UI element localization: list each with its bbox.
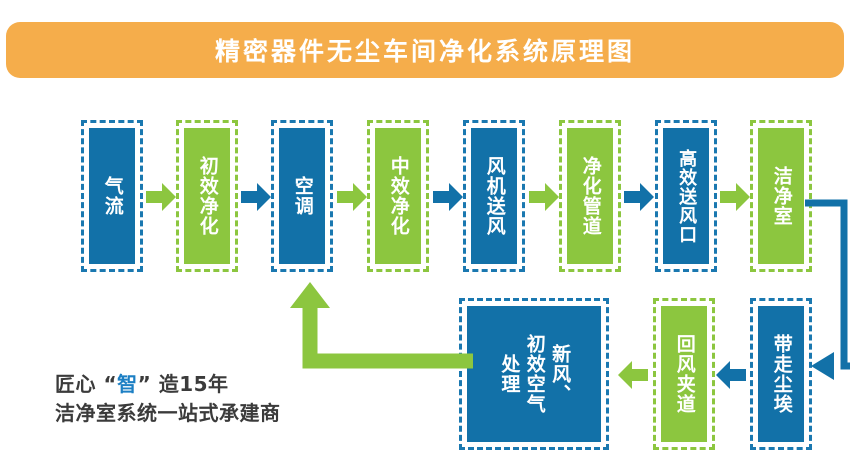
node-fill: 带走尘埃 — [758, 306, 804, 442]
flow-arrow-right-2 — [241, 182, 271, 212]
flow-arrow-right-5 — [529, 182, 559, 212]
connector-cleanroom-to-dust — [805, 198, 850, 383]
tagline-line-2: 洁净室系统一站式承建商 — [55, 399, 281, 428]
node-fill: 中效净化 — [375, 128, 421, 264]
node-fill: 初效净化 — [184, 128, 230, 264]
node-fill: 高效送风口 — [663, 128, 709, 264]
flow-node-label: 高效送风口 — [677, 149, 695, 244]
flow-arrow-right-3 — [337, 182, 367, 212]
flow-node-label-col-2: 初效空气 — [524, 334, 543, 414]
flow-arrow-right-6 — [624, 182, 654, 212]
node-fill: 洁净室 — [758, 128, 804, 264]
node-fill: 空调 — [279, 128, 325, 264]
flow-arrow-right-7 — [720, 182, 750, 212]
node-fill: 风机送风 — [471, 128, 517, 264]
flow-node-label: 带走尘埃 — [771, 334, 790, 414]
tagline-line1-pre: 匠心 “ — [55, 372, 117, 396]
vertical-text-columns: 新风、 初效空气 处理 — [499, 306, 569, 442]
flow-arrow-right-1 — [146, 182, 176, 212]
node-fill: 气流 — [89, 128, 135, 264]
flow-node-label: 回风夹道 — [674, 334, 693, 414]
tagline-line1-accent: 智 — [117, 372, 138, 396]
flow-node-fan-supply[interactable]: 风机送风 — [463, 120, 525, 272]
tagline: 匠心 “智” 造15年 洁净室系统一站式承建商 — [55, 370, 281, 428]
flow-node-label-col-1: 新风、 — [550, 344, 569, 404]
flow-node-label: 净化管道 — [580, 156, 599, 236]
flow-node-cleanroom[interactable]: 洁净室 — [750, 120, 812, 272]
flow-arrow-left-1 — [618, 360, 648, 390]
flow-node-primary-filtration[interactable]: 初效净化 — [176, 120, 238, 272]
connector-return-to-aircon — [288, 282, 473, 372]
flow-node-label: 初效净化 — [197, 156, 216, 236]
flow-node-airflow[interactable]: 气流 — [81, 120, 143, 272]
flow-arrow-right-4 — [433, 182, 463, 212]
flow-node-medium-filtration[interactable]: 中效净化 — [367, 120, 429, 272]
flow-node-label: 气流 — [102, 176, 121, 216]
node-fill: 新风、 初效空气 处理 — [467, 306, 601, 442]
tagline-line1-post: ” 造15年 — [138, 372, 229, 396]
flow-node-clean-duct[interactable]: 净化管道 — [559, 120, 621, 272]
flow-node-label: 风机送风 — [484, 156, 503, 236]
flow-node-return-air-plenum[interactable]: 回风夹道 — [653, 298, 715, 450]
flow-node-carry-away-dust[interactable]: 带走尘埃 — [750, 298, 812, 450]
flow-node-label: 中效净化 — [388, 156, 407, 236]
tagline-line-1: 匠心 “智” 造15年 — [55, 370, 281, 399]
node-fill: 净化管道 — [567, 128, 613, 264]
flow-arrow-left-2 — [716, 360, 746, 390]
flow-node-fresh-air-treatment[interactable]: 新风、 初效空气 处理 — [459, 298, 609, 450]
flow-node-hepa-outlet[interactable]: 高效送风口 — [655, 120, 717, 272]
flow-node-label-col-3: 处理 — [499, 354, 518, 394]
flow-node-air-conditioning[interactable]: 空调 — [271, 120, 333, 272]
flow-node-label: 空调 — [292, 176, 311, 216]
node-fill: 回风夹道 — [661, 306, 707, 442]
flow-node-label: 洁净室 — [771, 166, 790, 226]
